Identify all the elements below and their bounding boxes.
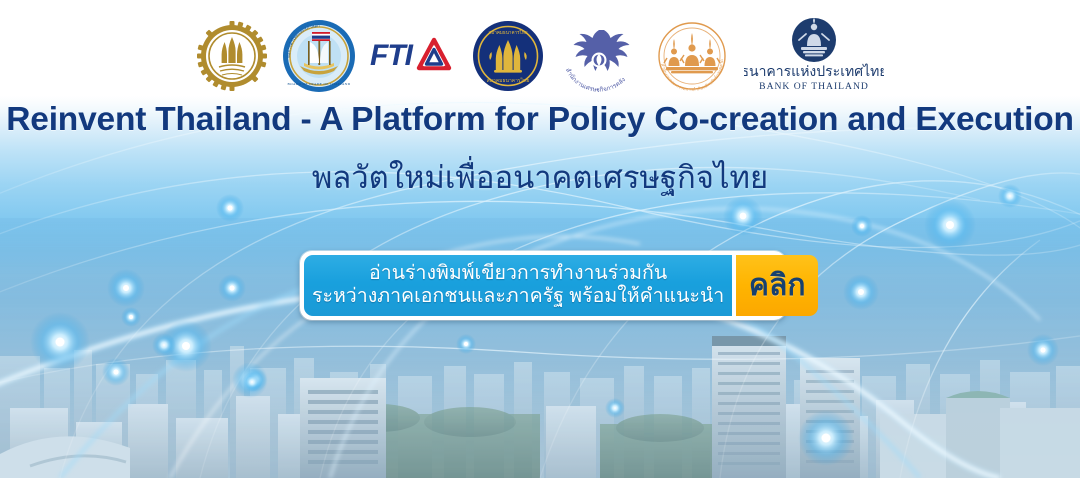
partner-logo-row: หอการค้าไทยและสภาหอการค้าแห่งประเทศไทย B… [0, 16, 1080, 96]
banner-headline: Reinvent Thailand - A Platform for Polic… [0, 101, 1080, 139]
banner-subheadline: พลวัตใหม่เพื่ออนาคตเศรษฐกิจไทย [0, 152, 1080, 202]
svg-text:สมาคมธนาคารไทย: สมาคมธนาคารไทย [488, 29, 527, 35]
board-of-trade-logo: หอการค้าไทยและสภาหอการค้าแห่งประเทศไทย B… [282, 19, 356, 93]
bank-of-thailand-name-en: BANK OF THAILAND [759, 81, 869, 92]
promo-banner: หอการค้าไทยและสภาหอการค้าแห่งประเทศไทย B… [0, 0, 1080, 478]
fti-logo: FTI [370, 30, 458, 82]
cta-line-1: อ่านร่างพิมพ์เขียวการทำงานร่วมกัน [369, 262, 667, 285]
cta-line-2: ระหว่างภาคเอกชนและภาครัฐ พร้อมให้คำแนะนำ [312, 285, 724, 308]
svg-text:BOARD OF TRADE OF THAILAND: BOARD OF TRADE OF THAILAND [287, 82, 350, 86]
thai-bankers-association-logo: สมาคมธนาคารไทย สมาคมธนาคารไทย [472, 20, 544, 92]
cta-click-badge[interactable]: คลิก [736, 255, 818, 316]
bank-of-thailand-name-th: ธนาคารแห่งประเทศไทย [744, 63, 884, 79]
securities-exchange-commission-logo: สำนักงานคณะกรรมการกำกับหลักทรัพย์และตลาด… [654, 20, 730, 92]
cta-text-panel[interactable]: อ่านร่างพิมพ์เขียวการทำงานร่วมกัน ระหว่า… [304, 255, 732, 316]
bank-of-thailand-logo: ธนาคารแห่งประเทศไทย BANK OF THAILAND [744, 16, 884, 96]
svg-text:สมาคมธนาคารไทย: สมาคมธนาคารไทย [487, 77, 530, 84]
read-blueprint-cta-button[interactable]: อ่านร่างพิมพ์เขียวการทำงานร่วมกัน ระหว่า… [300, 251, 786, 320]
fiscal-policy-office-logo: สำนักงานเศรษฐกิจการคลัง [558, 20, 640, 92]
svg-text:FTI: FTI [370, 39, 414, 72]
ministry-of-industry-logo [196, 20, 268, 92]
